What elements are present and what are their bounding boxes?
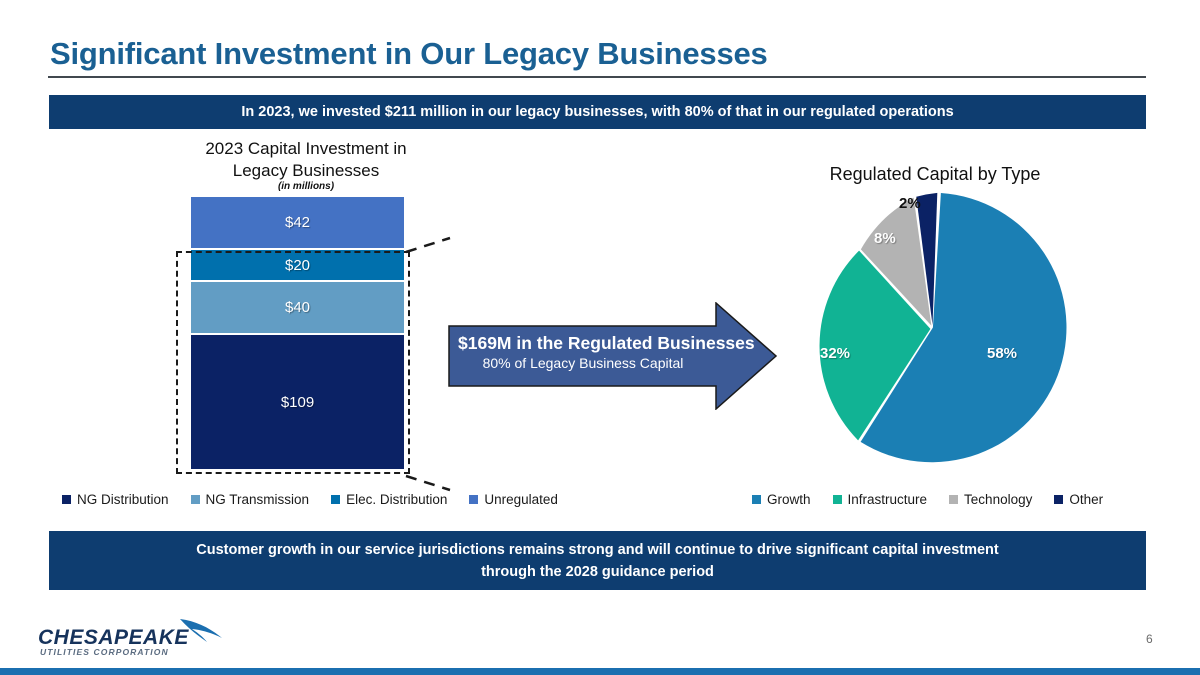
- regulated-callout-arrow: $169M in the Regulated Businesses 80% of…: [448, 302, 778, 410]
- legend-swatch-infrastructure: [833, 495, 842, 504]
- legend-label-infrastructure: Infrastructure: [848, 492, 928, 507]
- legend-item-unregulated: Unregulated: [469, 492, 558, 507]
- legend-item-elec-distribution: Elec. Distribution: [331, 492, 447, 507]
- bar-chart-units: (in millions): [148, 181, 464, 192]
- legend-swatch-ng-distribution: [62, 495, 71, 504]
- bar-chart-title-line1: 2023 Capital Investment in: [148, 138, 464, 160]
- logo-wordmark: CHESAPEAKE: [38, 626, 189, 649]
- legend-swatch-other: [1054, 495, 1063, 504]
- legend-label-growth: Growth: [767, 492, 811, 507]
- bar-segment-unregulated-value: $42: [285, 214, 310, 231]
- legend-item-technology: Technology: [949, 492, 1032, 507]
- legend-swatch-ng-transmission: [191, 495, 200, 504]
- legend-item-infrastructure: Infrastructure: [833, 492, 928, 507]
- bar-chart-title-line2: Legacy Businesses: [148, 160, 464, 182]
- footer-accent-bar: [0, 668, 1200, 675]
- legend-item-growth: Growth: [752, 492, 811, 507]
- logo-tagline: UTILITIES CORPORATION: [40, 647, 169, 657]
- pie-value-other: 2%: [899, 195, 921, 212]
- pie-chart-legend: Growth Infrastructure Technology Other: [752, 492, 1125, 507]
- legend-swatch-unregulated: [469, 495, 478, 504]
- page-number: 6: [1146, 632, 1153, 646]
- legend-swatch-elec-distribution: [331, 495, 340, 504]
- regulated-highlight-box: [176, 251, 410, 474]
- legend-item-other: Other: [1054, 492, 1103, 507]
- pie-chart-title: Regulated Capital by Type: [760, 164, 1110, 185]
- legend-label-other: Other: [1069, 492, 1103, 507]
- bar-chart-title: 2023 Capital Investment in Legacy Busine…: [148, 138, 464, 182]
- legend-swatch-technology: [949, 495, 958, 504]
- bar-segment-unregulated: $42: [190, 196, 405, 249]
- bottom-banner-line2: through the 2028 guidance period: [481, 561, 714, 583]
- logo-mark: CHESAPEAKE UTILITIES CORPORATION: [30, 617, 250, 663]
- slide: Significant Investment in Our Legacy Bus…: [0, 0, 1200, 675]
- chesapeake-utilities-logo: CHESAPEAKE UTILITIES CORPORATION: [30, 617, 250, 663]
- pie-value-infrastructure: 32%: [820, 345, 850, 362]
- legend-label-technology: Technology: [964, 492, 1032, 507]
- legend-label-elec-distribution: Elec. Distribution: [346, 492, 447, 507]
- bottom-banner-line1: Customer growth in our service jurisdict…: [196, 539, 998, 561]
- bottom-banner: Customer growth in our service jurisdict…: [49, 531, 1146, 590]
- pie-value-technology: 8%: [874, 230, 896, 247]
- bar-chart-legend: NG Distribution NG Transmission Elec. Di…: [62, 492, 580, 507]
- page-title: Significant Investment in Our Legacy Bus…: [50, 36, 768, 72]
- legend-swatch-growth: [752, 495, 761, 504]
- legend-label-ng-transmission: NG Transmission: [206, 492, 310, 507]
- arrow-shape: [448, 302, 778, 410]
- pie-slices: [795, 190, 1070, 465]
- pie-chart: 58% 32% 8% 2%: [795, 190, 1070, 465]
- title-divider: [48, 76, 1146, 78]
- top-banner-text: In 2023, we invested $211 million in our…: [241, 104, 953, 120]
- legend-item-ng-transmission: NG Transmission: [191, 492, 310, 507]
- legend-item-ng-distribution: NG Distribution: [62, 492, 169, 507]
- top-banner: In 2023, we invested $211 million in our…: [49, 95, 1146, 129]
- legend-label-unregulated: Unregulated: [484, 492, 558, 507]
- pie-value-growth: 58%: [987, 345, 1017, 362]
- legend-label-ng-distribution: NG Distribution: [77, 492, 169, 507]
